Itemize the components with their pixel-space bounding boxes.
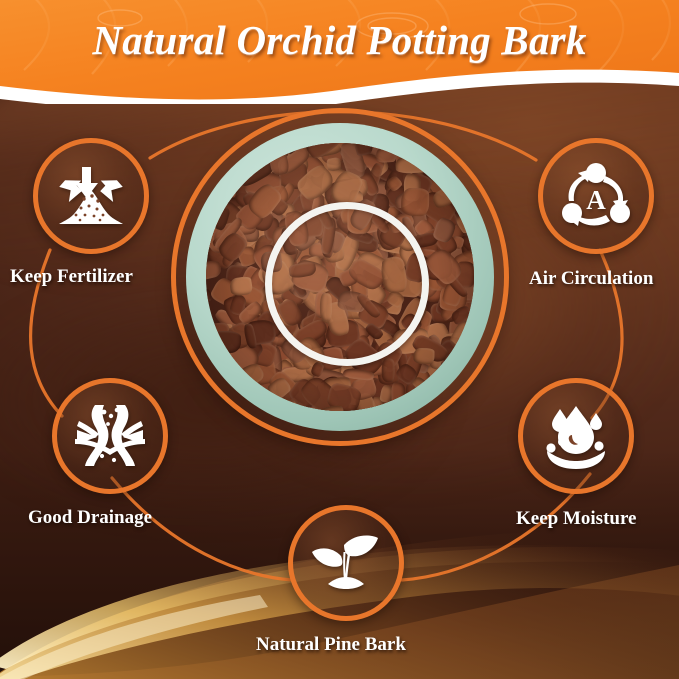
arrows-into-mound-icon (54, 163, 128, 229)
infographic-canvas: Keep Fertilizer A Air Circulation (0, 0, 679, 679)
bark-chip (375, 147, 396, 163)
feature-label-natural-pine-bark: Natural Pine Bark (256, 634, 406, 656)
bark-chip (414, 348, 435, 365)
circulating-arrows-a-icon: A (560, 161, 632, 231)
bark-chip (400, 188, 429, 216)
water-droplet-icon (539, 403, 613, 469)
svg-text:A: A (586, 185, 606, 215)
white-ring-overlay (265, 202, 429, 366)
seedling-sprout-icon (308, 532, 384, 594)
feature-circle-keep-moisture[interactable] (518, 378, 634, 494)
feature-label-air-circulation: Air Circulation (529, 268, 653, 290)
feature-circle-good-drainage[interactable] (52, 378, 168, 494)
feature-circle-keep-fertilizer[interactable] (33, 138, 149, 254)
product-image (176, 113, 504, 441)
header-banner: Natural Orchid Potting Bark (0, 0, 679, 104)
page-title: Natural Orchid Potting Bark (0, 16, 679, 64)
bark-chip (207, 331, 241, 353)
bark-chip (381, 358, 395, 383)
feature-label-keep-moisture: Keep Moisture (516, 508, 637, 530)
bark-chip (391, 382, 406, 405)
feature-label-keep-fertilizer: Keep Fertilizer (10, 266, 133, 288)
feature-label-good-drainage: Good Drainage (28, 507, 152, 529)
bark-chip (395, 155, 431, 174)
feature-circle-air-circulation[interactable]: A (538, 138, 654, 254)
water-through-layers-icon (73, 403, 147, 469)
feature-circle-natural-pine-bark[interactable] (288, 505, 404, 621)
